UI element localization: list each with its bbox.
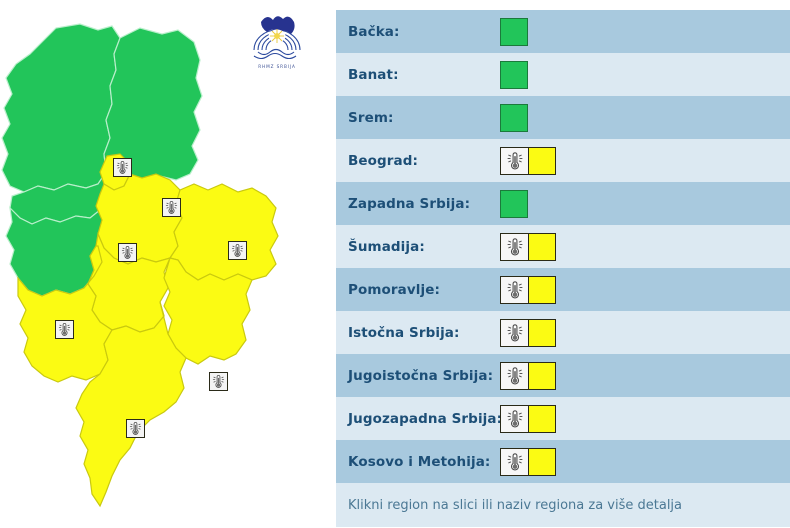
legend-row[interactable]: Zapadna Srbija:: [336, 182, 790, 225]
region-name-label[interactable]: Istočna Srbija:: [348, 325, 500, 341]
legend-row[interactable]: Kosovo i Metohija:: [336, 440, 790, 483]
warning-badge: [500, 61, 528, 89]
warning-level-swatch-yellow: [528, 233, 556, 261]
legend-footer-hint: Klikni region na slici ili naziv regiona…: [336, 483, 790, 527]
thermometer-icon: [505, 452, 525, 472]
thermometer-icon: [211, 374, 226, 389]
warning-level-swatch-yellow: [528, 147, 556, 175]
thermometer-icon: [164, 200, 179, 215]
legend-row[interactable]: Istočna Srbija:: [336, 311, 790, 354]
region-name-label[interactable]: Beograd:: [348, 153, 500, 169]
region-name-label[interactable]: Bačka:: [348, 24, 500, 40]
warning-badge: [500, 448, 556, 476]
warning-badge: [500, 104, 528, 132]
warning-level-swatch-yellow: [528, 405, 556, 433]
thermometer-icon: [505, 366, 525, 386]
map-region-sumadija[interactable]: [96, 174, 182, 264]
thermometer-icon-box: [500, 233, 528, 261]
thermometer-icon: [505, 323, 525, 343]
thermometer-icon-box: [500, 319, 528, 347]
legend-row[interactable]: Jugozapadna Srbija:: [336, 397, 790, 440]
warning-level-swatch-yellow: [528, 276, 556, 304]
warning-badge: [500, 233, 556, 261]
legend-row[interactable]: Banat:: [336, 53, 790, 96]
thermometer-icon: [505, 280, 525, 300]
warning-badge: [500, 319, 556, 347]
warning-badge: [500, 190, 528, 218]
thermometer-icon: [505, 151, 525, 171]
serbia-warning-map[interactable]: [0, 8, 332, 528]
region-name-label[interactable]: Pomoravlje:: [348, 282, 500, 298]
region-name-label[interactable]: Kosovo i Metohija:: [348, 454, 500, 470]
map-region-istocna-srbija[interactable]: [170, 184, 278, 280]
thermometer-icon: [120, 245, 135, 260]
region-name-label[interactable]: Jugoistočna Srbija:: [348, 368, 500, 384]
map-marker-pomoravlje[interactable]: [118, 243, 137, 262]
region-name-label[interactable]: Šumadija:: [348, 239, 500, 255]
warning-level-swatch-green: [500, 104, 528, 132]
warning-badge: [500, 362, 556, 390]
legend-panel: Bačka:Banat:Srem:Beograd:Zapadna Srbija:…: [332, 0, 790, 528]
region-name-label[interactable]: Zapadna Srbija:: [348, 196, 500, 212]
map-marker-jugoistocna-srbija[interactable]: [209, 372, 228, 391]
thermometer-icon-box: [500, 448, 528, 476]
map-marker-sumadija[interactable]: [162, 198, 181, 217]
thermometer-icon: [128, 421, 143, 436]
legend-row[interactable]: Jugoistočna Srbija:: [336, 354, 790, 397]
region-name-label[interactable]: Jugozapadna Srbija:: [348, 411, 500, 427]
region-name-label[interactable]: Srem:: [348, 110, 500, 126]
thermometer-icon: [57, 322, 72, 337]
warning-level-swatch-green: [500, 61, 528, 89]
thermometer-icon-box: [500, 362, 528, 390]
logo-caption: RHMZ SRBIJA: [258, 64, 295, 69]
map-marker-beograd[interactable]: [113, 158, 132, 177]
warning-level-swatch-green: [500, 190, 528, 218]
map-marker-kosovo-i-metohija[interactable]: [126, 419, 145, 438]
warning-badge: [500, 18, 528, 46]
region-name-label[interactable]: Banat:: [348, 67, 500, 83]
map-panel: RHMZ SRBIJA: [0, 0, 332, 528]
thermometer-icon-box: [500, 276, 528, 304]
thermometer-icon: [115, 160, 130, 175]
warning-level-swatch-yellow: [528, 448, 556, 476]
legend-row[interactable]: Bačka:: [336, 10, 790, 53]
legend-row[interactable]: Pomoravlje:: [336, 268, 790, 311]
legend-row[interactable]: Srem:: [336, 96, 790, 139]
warning-level-swatch-yellow: [528, 319, 556, 347]
thermometer-icon: [505, 409, 525, 429]
legend-row[interactable]: Beograd:: [336, 139, 790, 182]
map-marker-istocna-srbija[interactable]: [228, 241, 247, 260]
legend-row[interactable]: Šumadija:: [336, 225, 790, 268]
warning-badge: [500, 147, 556, 175]
warning-badge: [500, 276, 556, 304]
region-warning-list: Bačka:Banat:Srem:Beograd:Zapadna Srbija:…: [336, 10, 790, 528]
thermometer-icon-box: [500, 405, 528, 433]
map-marker-zapadna-srbija[interactable]: [55, 320, 74, 339]
thermometer-icon: [505, 237, 525, 257]
warning-level-swatch-yellow: [528, 362, 556, 390]
warning-level-swatch-green: [500, 18, 528, 46]
weather-warning-page: RHMZ SRBIJA Bačka:Banat:Srem:Beograd:Zap…: [0, 0, 790, 528]
warning-badge: [500, 405, 556, 433]
thermometer-icon-box: [500, 147, 528, 175]
rhmz-logo: RHMZ SRBIJA: [248, 4, 306, 76]
thermometer-icon: [230, 243, 245, 258]
